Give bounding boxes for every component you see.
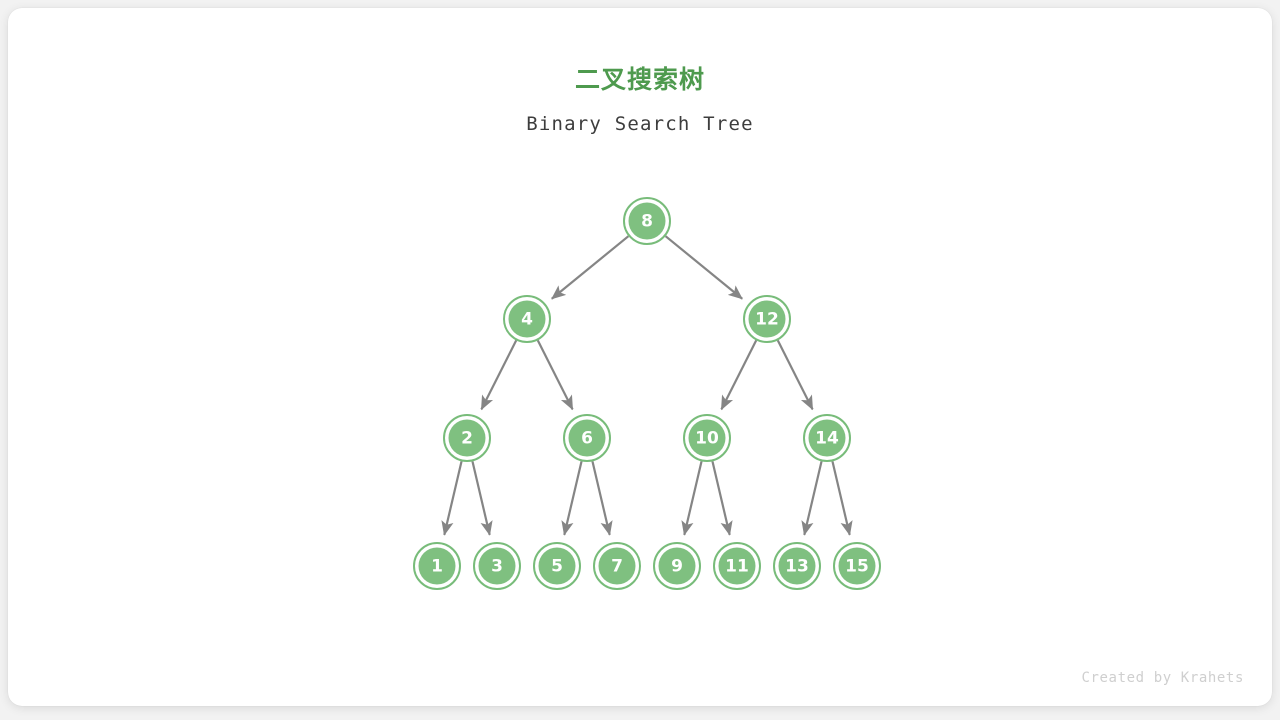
tree-node[interactable]: 1 (414, 543, 460, 589)
tree-edge (564, 461, 581, 534)
tree-node[interactable]: 7 (594, 543, 640, 589)
tree-edge (778, 340, 813, 409)
tree-edge (444, 461, 461, 534)
tree-node-label: 8 (641, 212, 653, 232)
tree-node-layer: 841226101413579111315 (414, 198, 880, 589)
tree-edge (538, 340, 573, 409)
tree-node[interactable]: 4 (504, 296, 550, 342)
tree-edge (684, 461, 701, 534)
tree-edge-layer (444, 236, 849, 535)
tree-edge (552, 236, 629, 299)
tree-edge (721, 340, 756, 409)
tree-node[interactable]: 6 (564, 415, 610, 461)
tree-node-label: 3 (491, 557, 503, 577)
tree-edge (666, 236, 743, 299)
tree-node[interactable]: 5 (534, 543, 580, 589)
tree-node-label: 2 (461, 429, 473, 449)
tree-node[interactable]: 9 (654, 543, 700, 589)
binary-search-tree-diagram: 841226101413579111315 (8, 8, 1272, 706)
tree-node[interactable]: 12 (744, 296, 790, 342)
tree-edge (481, 340, 516, 409)
tree-edge (832, 461, 849, 534)
tree-node[interactable]: 15 (834, 543, 880, 589)
tree-edge (804, 461, 821, 534)
tree-node-label: 13 (785, 557, 809, 577)
tree-node-label: 15 (845, 557, 869, 577)
tree-node[interactable]: 2 (444, 415, 490, 461)
tree-node[interactable]: 8 (624, 198, 670, 244)
tree-edge (712, 461, 729, 534)
tree-node-label: 6 (581, 429, 593, 449)
tree-node-label: 1 (431, 557, 443, 577)
tree-node-label: 11 (725, 557, 749, 577)
tree-edge (592, 461, 609, 534)
tree-node[interactable]: 3 (474, 543, 520, 589)
tree-node-label: 9 (671, 557, 683, 577)
tree-node-label: 5 (551, 557, 563, 577)
tree-node-label: 10 (695, 429, 719, 449)
tree-node[interactable]: 10 (684, 415, 730, 461)
tree-node[interactable]: 13 (774, 543, 820, 589)
tree-edge (472, 461, 489, 534)
tree-node[interactable]: 11 (714, 543, 760, 589)
tree-node-label: 12 (755, 310, 779, 330)
credit-label: Created by Krahets (1081, 670, 1244, 686)
tree-node-label: 4 (521, 310, 533, 330)
diagram-card: 二叉搜索树 Binary Search Tree 841226101413579… (8, 8, 1272, 706)
tree-node-label: 14 (815, 429, 839, 449)
tree-node[interactable]: 14 (804, 415, 850, 461)
tree-node-label: 7 (611, 557, 623, 577)
